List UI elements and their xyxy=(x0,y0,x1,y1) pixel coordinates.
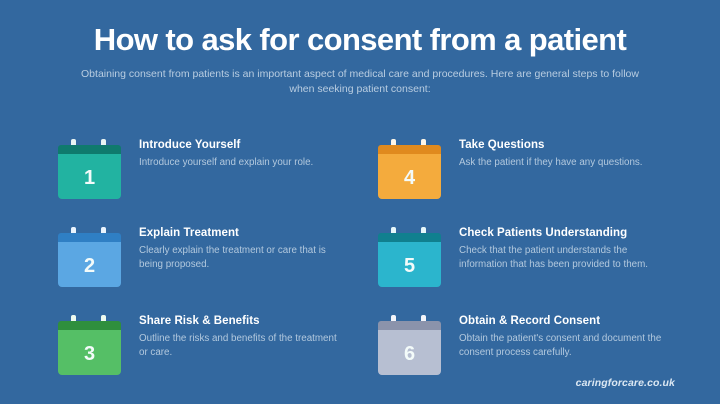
footer-website: caringforcare.co.uk xyxy=(576,377,675,389)
step-description: Check that the patient understands the i… xyxy=(459,244,664,271)
calendar-icon: 5 xyxy=(378,227,441,287)
calendar-icon: 6 xyxy=(378,315,441,375)
steps-grid: 1 Introduce Yourself Introduce yourself … xyxy=(58,133,674,375)
calendar-body: 3 xyxy=(58,330,121,375)
calendar-icon: 4 xyxy=(378,139,441,199)
step-description: Ask the patient if they have any questio… xyxy=(459,156,664,170)
page-subtitle: Obtaining consent from patients is an im… xyxy=(77,67,643,97)
page-title: How to ask for consent from a patient xyxy=(0,22,720,58)
step-number: 6 xyxy=(404,342,415,364)
step-card: 3 Share Risk & Benefits Outline the risk… xyxy=(58,309,354,375)
calendar-icon: 3 xyxy=(58,315,121,375)
step-description: Introduce yourself and explain your role… xyxy=(139,156,344,170)
step-card: 6 Obtain & Record Consent Obtain the pat… xyxy=(378,309,674,375)
step-number: 5 xyxy=(404,254,415,276)
step-card: 1 Introduce Yourself Introduce yourself … xyxy=(58,133,354,199)
step-description: Obtain the patient's consent and documen… xyxy=(459,332,664,359)
step-heading: Check Patients Understanding xyxy=(459,226,674,240)
step-heading: Obtain & Record Consent xyxy=(459,314,674,328)
step-text: Explain Treatment Clearly explain the tr… xyxy=(121,221,354,271)
step-number: 2 xyxy=(84,254,95,276)
calendar-body: 4 xyxy=(378,154,441,199)
poster-header: How to ask for consent from a patient Ob… xyxy=(0,0,720,97)
step-number: 1 xyxy=(84,166,95,188)
calendar-body: 1 xyxy=(58,154,121,199)
calendar-icon: 1 xyxy=(58,139,121,199)
calendar-body: 2 xyxy=(58,242,121,287)
step-description: Clearly explain the treatment or care th… xyxy=(139,244,344,271)
infographic-poster: How to ask for consent from a patient Ob… xyxy=(0,0,720,404)
step-text: Introduce Yourself Introduce yourself an… xyxy=(121,133,354,170)
step-heading: Share Risk & Benefits xyxy=(139,314,354,328)
step-heading: Introduce Yourself xyxy=(139,138,354,152)
step-number: 3 xyxy=(84,342,95,364)
step-number: 4 xyxy=(404,166,415,188)
step-card: 2 Explain Treatment Clearly explain the … xyxy=(58,221,354,287)
calendar-body: 5 xyxy=(378,242,441,287)
step-heading: Take Questions xyxy=(459,138,674,152)
step-card: 5 Check Patients Understanding Check tha… xyxy=(378,221,674,287)
step-text: Take Questions Ask the patient if they h… xyxy=(441,133,674,170)
step-heading: Explain Treatment xyxy=(139,226,354,240)
step-text: Obtain & Record Consent Obtain the patie… xyxy=(441,309,674,359)
step-card: 4 Take Questions Ask the patient if they… xyxy=(378,133,674,199)
step-text: Share Risk & Benefits Outline the risks … xyxy=(121,309,354,359)
calendar-icon: 2 xyxy=(58,227,121,287)
calendar-body: 6 xyxy=(378,330,441,375)
step-text: Check Patients Understanding Check that … xyxy=(441,221,674,271)
step-description: Outline the risks and benefits of the tr… xyxy=(139,332,344,359)
